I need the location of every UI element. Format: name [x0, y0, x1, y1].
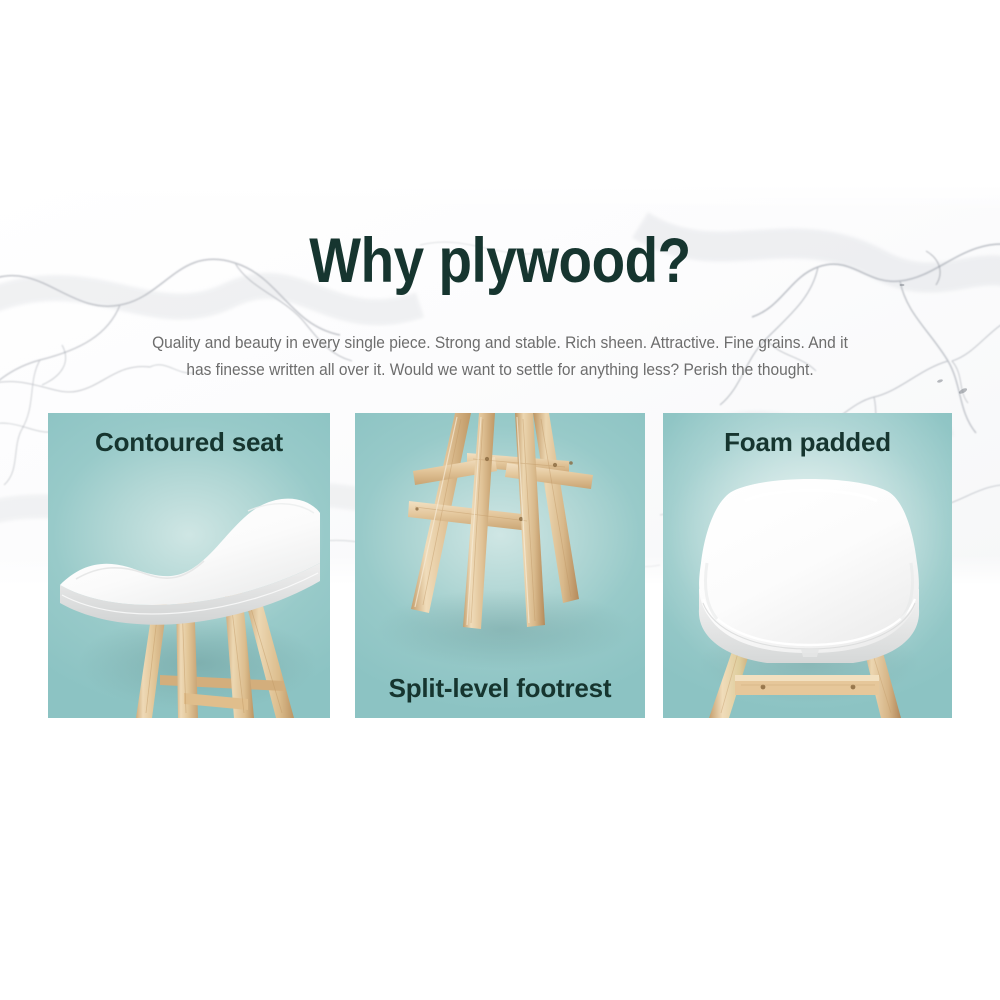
- subheading-copy: Quality and beauty in every single piece…: [129, 330, 872, 383]
- product-feature-banner: Why plywood? Quality and beauty in every…: [0, 0, 1000, 1000]
- feature-panel-foam-padded[interactable]: Foam padded: [663, 413, 952, 718]
- contoured-seat-image: [48, 413, 330, 718]
- heading-block: Why plywood?: [0, 228, 1000, 294]
- subheading-line-1: Quality and beauty in every single piece…: [129, 330, 872, 357]
- subheading-line-2: has finesse written all over it. Would w…: [129, 357, 872, 384]
- feature-panel-split-level-footrest[interactable]: Split-level footrest: [355, 413, 645, 718]
- foam-padded-seat-image: [663, 413, 952, 718]
- page-title: Why plywood?: [65, 228, 935, 294]
- panel-label-split-level-footrest: Split-level footrest: [355, 673, 645, 704]
- panel-label-foam-padded: Foam padded: [663, 427, 952, 458]
- feature-panel-contoured-seat[interactable]: Contoured seat: [48, 413, 330, 718]
- panel-label-contoured-seat: Contoured seat: [48, 427, 330, 458]
- feature-panel-row: Contoured seat: [48, 413, 952, 718]
